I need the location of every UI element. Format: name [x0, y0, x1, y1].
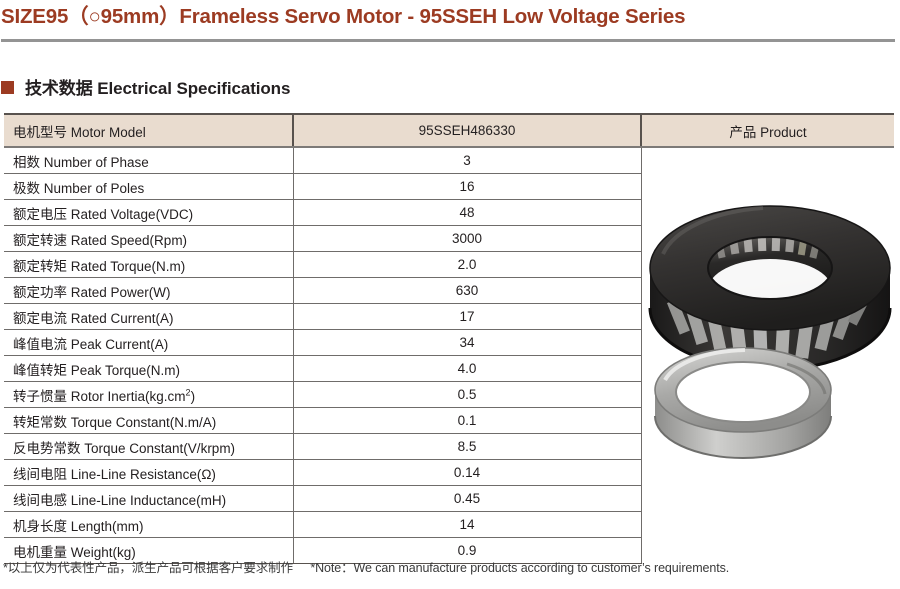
spec-label: 相数 Number of Phase [4, 147, 293, 174]
page-title: SIZE95（○95mm）Frameless Servo Motor - 95S… [0, 2, 900, 32]
spec-label-text: 转子惯量 Rotor Inertia(kg.cm [13, 389, 186, 404]
table-header-row: 电机型号 Motor Model 95SSEH486330 产品 Product [4, 114, 894, 147]
spec-value: 14 [293, 512, 641, 538]
spec-value: 630 [293, 278, 641, 304]
spec-label: 转矩常数 Torque Constant(N.m/A) [4, 408, 293, 434]
electrical-specifications-table: 电机型号 Motor Model 95SSEH486330 产品 Product… [4, 113, 894, 564]
table-body: 相数 Number of Phase 3 极数 Number of Poles … [4, 147, 894, 564]
spec-value: 0.5 [293, 382, 641, 408]
spec-label-tail: ) [191, 389, 196, 404]
title-block: SIZE95（○95mm）Frameless Servo Motor - 95S… [0, 2, 900, 32]
section-header: 技术数据 Electrical Specifications [1, 74, 290, 99]
spec-label: 峰值转矩 Peak Torque(N.m) [4, 356, 293, 382]
spec-value: 3000 [293, 226, 641, 252]
spec-value: 34 [293, 330, 641, 356]
spec-sheet-page: SIZE95（○95mm）Frameless Servo Motor - 95S… [0, 0, 900, 589]
spec-value: 17 [293, 304, 641, 330]
spec-value: 0.14 [293, 460, 641, 486]
spec-label: 线间电感 Line-Line Inductance(mH) [4, 486, 293, 512]
spec-label: 反电势常数 Torque Constant(V/krpm) [4, 434, 293, 460]
spec-label: 额定转速 Rated Speed(Rpm) [4, 226, 293, 252]
spec-label: 极数 Number of Poles [4, 174, 293, 200]
title-divider [1, 39, 895, 42]
spec-value: 8.5 [293, 434, 641, 460]
spec-label: 线间电阻 Line-Line Resistance(Ω) [4, 460, 293, 486]
spec-value: 0.1 [293, 408, 641, 434]
section-heading: 技术数据 Electrical Specifications [25, 74, 290, 99]
spec-value: 48 [293, 200, 641, 226]
table-row: 相数 Number of Phase 3 [4, 147, 894, 174]
square-bullet-icon [1, 81, 14, 94]
spec-label: 额定电压 Rated Voltage(VDC) [4, 200, 293, 226]
spec-label: 峰值电流 Peak Current(A) [4, 330, 293, 356]
spec-label: 额定转矩 Rated Torque(N.m) [4, 252, 293, 278]
footnote-cn: *以上仅为代表性产品，派生产品可根据客户要求制作 [3, 561, 293, 575]
spec-value: 0.45 [293, 486, 641, 512]
column-header-product: 产品 Product [641, 114, 894, 147]
footnote-en: *Note：We can manufacture products accord… [310, 561, 729, 575]
spec-label: 转子惯量 Rotor Inertia(kg.cm2) [4, 382, 293, 408]
spec-value: 3 [293, 147, 641, 174]
product-image-cell [641, 147, 894, 564]
spec-value: 16 [293, 174, 641, 200]
spec-label: 额定功率 Rated Power(W) [4, 278, 293, 304]
spec-value: 4.0 [293, 356, 641, 382]
footnote: *以上仅为代表性产品，派生产品可根据客户要求制作 *Note：We can ma… [3, 557, 729, 576]
spec-value: 2.0 [293, 252, 641, 278]
spec-label: 机身长度 Length(mm) [4, 512, 293, 538]
column-header-motor-model: 电机型号 Motor Model [4, 114, 293, 147]
spec-label: 额定电流 Rated Current(A) [4, 304, 293, 330]
column-header-model-number: 95SSEH486330 [293, 114, 641, 147]
